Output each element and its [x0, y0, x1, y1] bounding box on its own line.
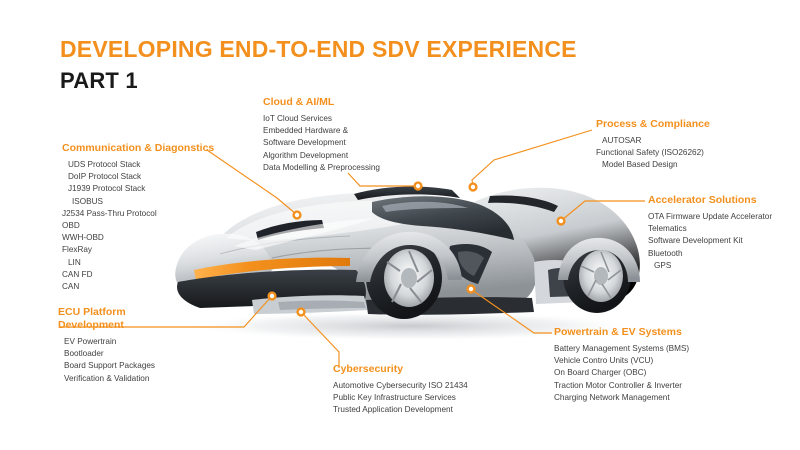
block-heading-accelerator-solutions: Accelerator Solutions	[648, 194, 772, 207]
block-heading-cloud-ai-ml: Cloud & AI/ML	[263, 96, 380, 109]
page-subtitle: PART 1	[60, 68, 138, 94]
list-item: LIN	[62, 257, 214, 269]
block-list-cybersecurity: Automotive Cybersecurity ISO 21434 Publi…	[333, 380, 468, 417]
car-front-hub	[401, 268, 417, 288]
list-item: Software Development Kit	[648, 235, 772, 247]
list-item: Data Modelling & Preprocessing	[263, 162, 380, 174]
list-item: FlexRay	[62, 244, 214, 256]
block-list-ecu-platform-development: EV Powertrain Bootloader Board Support P…	[58, 336, 155, 385]
list-item: Automotive Cybersecurity ISO 21434	[333, 380, 468, 392]
list-item: Model Based Design	[596, 159, 710, 171]
list-item: ISOBUS	[62, 196, 214, 208]
block-list-communication-diagnostics: UDS Protocol Stack DoIP Protocol Stack J…	[62, 159, 214, 293]
block-heading-ecu-platform-development: ECU Platform Development	[58, 306, 155, 332]
car-svg	[160, 150, 670, 345]
list-item: J1939 Protocol Stack	[62, 183, 214, 195]
page-title: DEVELOPING END-TO-END SDV EXPERIENCE	[60, 36, 577, 63]
list-item: OTA Firmware Update Accelerator	[648, 211, 772, 223]
list-item: WWH-OBD	[62, 232, 214, 244]
block-heading-powertrain-ev-systems: Powertrain & EV Systems	[554, 326, 689, 339]
list-item: UDS Protocol Stack	[62, 159, 214, 171]
block-process-compliance: Process & Compliance AUTOSAR Functional …	[596, 118, 710, 172]
list-item: IoT Cloud Services	[263, 113, 380, 125]
list-item: Battery Management Systems (BMS)	[554, 343, 689, 355]
list-item: On Board Charger (OBC)	[554, 367, 689, 379]
block-heading-cybersecurity: Cybersecurity	[333, 363, 468, 376]
block-powertrain-ev-systems: Powertrain & EV Systems Battery Manageme…	[554, 326, 689, 404]
block-heading-process-compliance: Process & Compliance	[596, 118, 710, 131]
list-item: Public Key Infrastructure Services	[333, 392, 468, 404]
list-item: DoIP Protocol Stack	[62, 171, 214, 183]
list-item: Trusted Application Development	[333, 404, 468, 416]
list-item: Software Development	[263, 137, 380, 149]
block-accelerator-solutions: Accelerator Solutions OTA Firmware Updat…	[648, 194, 772, 272]
block-list-cloud-ai-ml: IoT Cloud Services Embedded Hardware & S…	[263, 113, 380, 174]
block-cloud-ai-ml: Cloud & AI/ML IoT Cloud Services Embedde…	[263, 96, 380, 174]
list-item: Embedded Hardware &	[263, 125, 380, 137]
list-item: Functional Safety (ISO26262)	[596, 147, 710, 159]
block-list-powertrain-ev-systems: Battery Management Systems (BMS) Vehicle…	[554, 343, 689, 404]
list-item: OBD	[62, 220, 214, 232]
block-heading-communication-diagnostics: Communication & Diagonstics	[62, 142, 214, 155]
list-item: Algorithm Development	[263, 150, 380, 162]
list-item: Bluetooth	[648, 248, 772, 260]
infographic-canvas: DEVELOPING END-TO-END SDV EXPERIENCE PAR…	[0, 0, 800, 450]
block-cybersecurity: Cybersecurity Automotive Cybersecurity I…	[333, 363, 468, 417]
list-item: Charging Network Management	[554, 392, 689, 404]
list-item: Traction Motor Controller & Inverter	[554, 380, 689, 392]
block-ecu-platform-development: ECU Platform Development EV Powertrain B…	[58, 306, 155, 385]
block-list-process-compliance: AUTOSAR Functional Safety (ISO26262) Mod…	[596, 135, 710, 172]
list-item: Telematics	[648, 223, 772, 235]
block-list-accelerator-solutions: OTA Firmware Update Accelerator Telemati…	[648, 211, 772, 272]
list-item: Verification & Validation	[58, 373, 155, 385]
list-item: CAN	[62, 281, 214, 293]
list-item: Bootloader	[58, 348, 155, 360]
car-rear-hub	[594, 267, 608, 285]
list-item: Vehicle Contro Units (VCU)	[554, 355, 689, 367]
list-item: CAN FD	[62, 269, 214, 281]
list-item: GPS	[648, 260, 772, 272]
block-communication-diagnostics: Communication & Diagonstics UDS Protocol…	[62, 142, 214, 293]
list-item: AUTOSAR	[596, 135, 710, 147]
list-item: EV Powertrain	[58, 336, 155, 348]
sdv-concept-car-illustration	[160, 150, 670, 345]
list-item: J2534 Pass-Thru Protocol	[62, 208, 214, 220]
list-item: Board Support Packages	[58, 360, 155, 372]
